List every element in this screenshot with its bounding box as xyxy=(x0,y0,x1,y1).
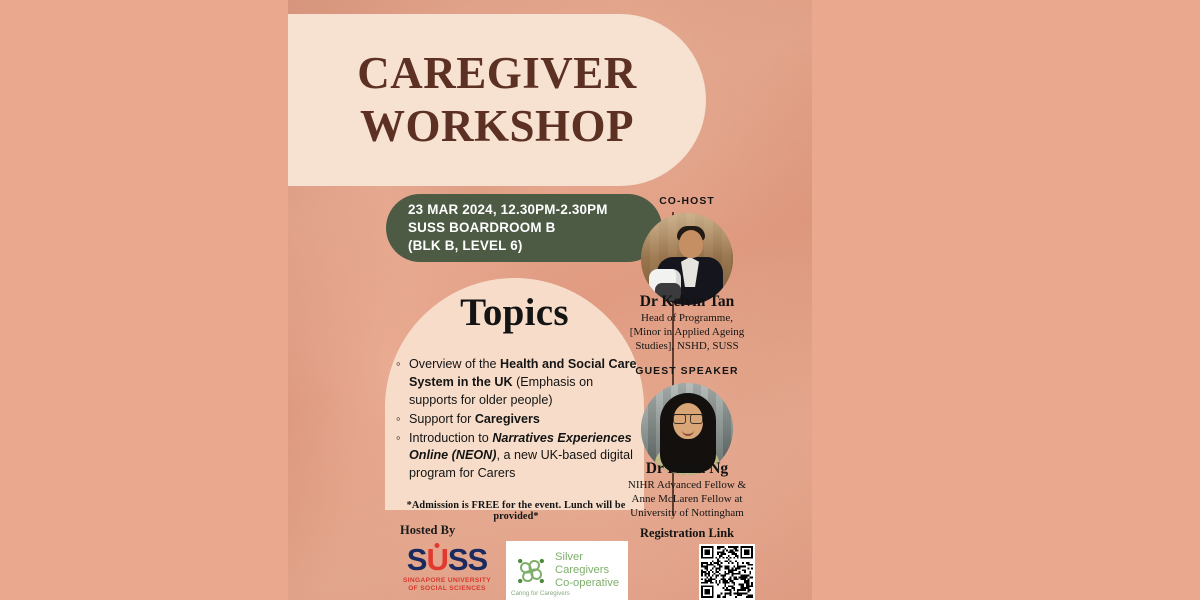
topic-item: Overview of the Health and Social Care S… xyxy=(396,356,638,410)
guest-title-line-2: Anne McLaren Fellow at xyxy=(607,492,767,506)
sc-tagline: Caring for Caregivers xyxy=(511,590,570,597)
guest-speaker-title: NIHR Advanced Fellow & Anne McLaren Fell… xyxy=(607,478,767,520)
guest-speaker-name: Dr Fiona Ng xyxy=(607,460,767,478)
qr-code-icon xyxy=(701,546,753,598)
topic-item: Introduction to Narratives Experiences O… xyxy=(396,430,638,484)
suss-logo: SUSS SINGAPORE UNIVERSITY OF SOCIAL SCIE… xyxy=(391,544,503,594)
silver-caregivers-wordmark: Silver Caregivers Co-operative xyxy=(555,551,619,590)
suss-letter-u: U xyxy=(426,542,447,577)
cohost-name: Dr Kelvin Tan xyxy=(607,293,767,311)
suss-letter-s1: S xyxy=(407,542,427,577)
title-banner: CAREGIVER WORKSHOP xyxy=(288,14,706,186)
cohost-title: Head of Programme, [Minor in Applied Age… xyxy=(607,311,767,353)
suss-subtitle: SINGAPORE UNIVERSITY OF SOCIAL SCIENCES xyxy=(391,577,503,594)
clover-knot-icon xyxy=(511,551,551,591)
registration-label: Registration Link xyxy=(607,526,767,541)
role-label-guest-speaker: GUEST SPEAKER xyxy=(612,366,762,377)
topics-heading: Topics xyxy=(385,290,644,335)
topic-item: Support for Caregivers xyxy=(396,411,638,429)
poster-stage: CAREGIVER WORKSHOP 23 MAR 2024, 12.30PM-… xyxy=(0,0,1200,600)
suss-subtitle-line-2: OF SOCIAL SCIENCES xyxy=(391,585,503,593)
sc-line-3: Co-operative xyxy=(555,577,619,590)
event-venue: SUSS BOARDROOM B xyxy=(408,219,662,237)
silver-caregivers-logo: Silver Caregivers Co-operative Caring fo… xyxy=(506,541,628,600)
registration-qr-code[interactable] xyxy=(699,544,755,600)
poster-canvas: CAREGIVER WORKSHOP 23 MAR 2024, 12.30PM-… xyxy=(288,0,812,600)
topics-list: Overview of the Health and Social Care S… xyxy=(396,356,638,484)
suss-subtitle-line-1: SINGAPORE UNIVERSITY xyxy=(391,577,503,585)
cohost-title-line-1: Head of Programme, xyxy=(607,311,767,325)
event-venue-detail: (BLK B, LEVEL 6) xyxy=(408,237,662,255)
sc-line-1: Silver xyxy=(555,551,619,564)
cohost-title-line-2: [Minor in Applied Ageing xyxy=(607,325,767,339)
suss-wordmark: SUSS xyxy=(391,544,503,575)
cohost-avatar xyxy=(641,213,733,305)
cohost-title-line-3: Studies], NSHD, SUSS xyxy=(607,339,767,353)
title-line-2: WORKSHOP xyxy=(360,100,634,153)
guest-title-line-3: University of Nottingham xyxy=(607,506,767,520)
suss-letter-ss: SS xyxy=(448,542,487,577)
title-line-1: CAREGIVER xyxy=(357,47,637,100)
role-label-cohost: CO-HOST xyxy=(612,196,762,207)
hosted-by-label: Hosted By xyxy=(400,523,455,538)
sc-line-2: Caregivers xyxy=(555,564,619,577)
guest-title-line-1: NIHR Advanced Fellow & xyxy=(607,478,767,492)
